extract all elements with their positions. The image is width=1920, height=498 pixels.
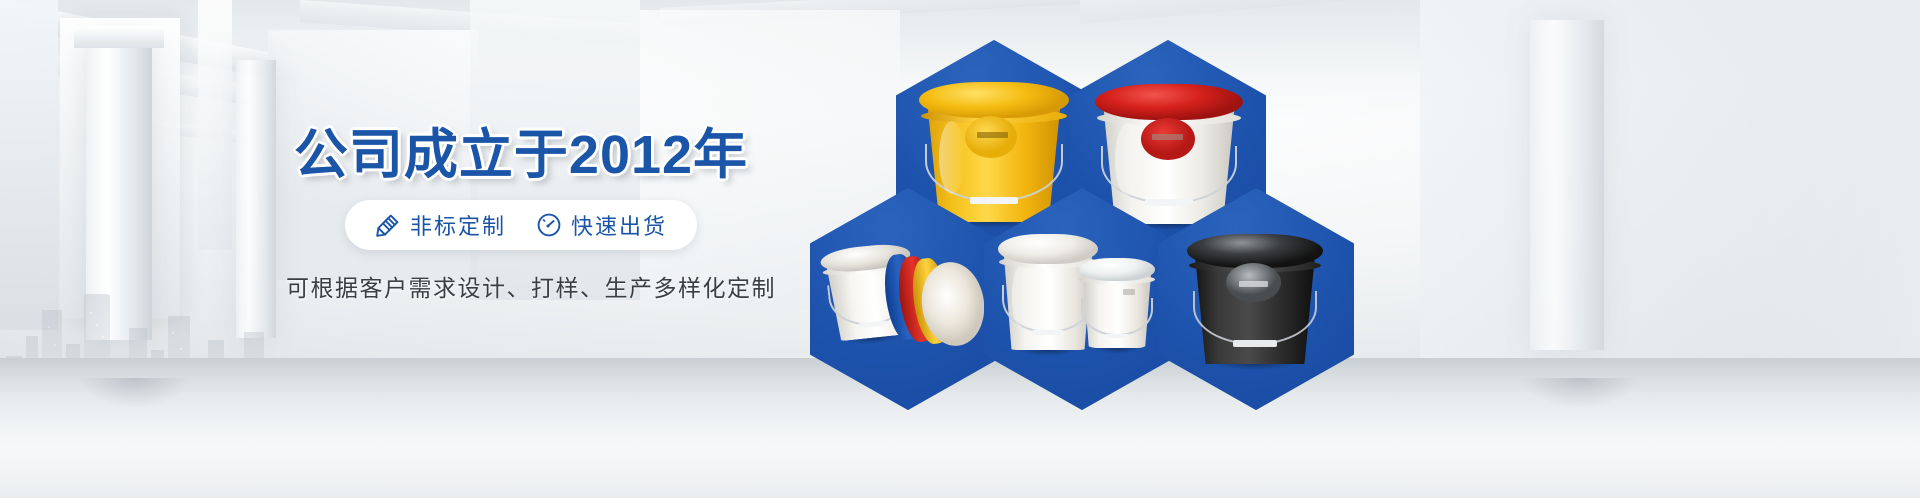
feature-pill: 非标定制 快速出货: [345, 200, 697, 250]
background-column-reflection-2: [1500, 378, 1660, 420]
product-hexagon-cluster: [790, 26, 1490, 386]
background-column-cap-left: [74, 26, 164, 48]
background-column-reflection: [60, 378, 210, 420]
promo-banner: 公司成立于2012年 非标定制: [0, 0, 1920, 498]
feature-label-custom: 非标定制: [410, 209, 506, 241]
background-column-right: [1530, 20, 1604, 350]
banner-headline: 公司成立于2012年: [286, 124, 756, 186]
feature-label-fast-shipping: 快速出货: [571, 209, 667, 241]
background-arch-3: [198, 0, 232, 250]
feature-item-fast-shipping[interactable]: 快速出货: [536, 209, 667, 241]
speedometer-icon: [536, 212, 562, 238]
pen-design-icon: [375, 212, 401, 238]
feature-item-custom[interactable]: 非标定制: [375, 209, 506, 241]
banner-text-block: 公司成立于2012年 非标定制: [286, 124, 756, 303]
banner-subtitle: 可根据客户需求设计、打样、生产多样化定制: [286, 269, 756, 303]
background-arch-2: [0, 0, 58, 330]
